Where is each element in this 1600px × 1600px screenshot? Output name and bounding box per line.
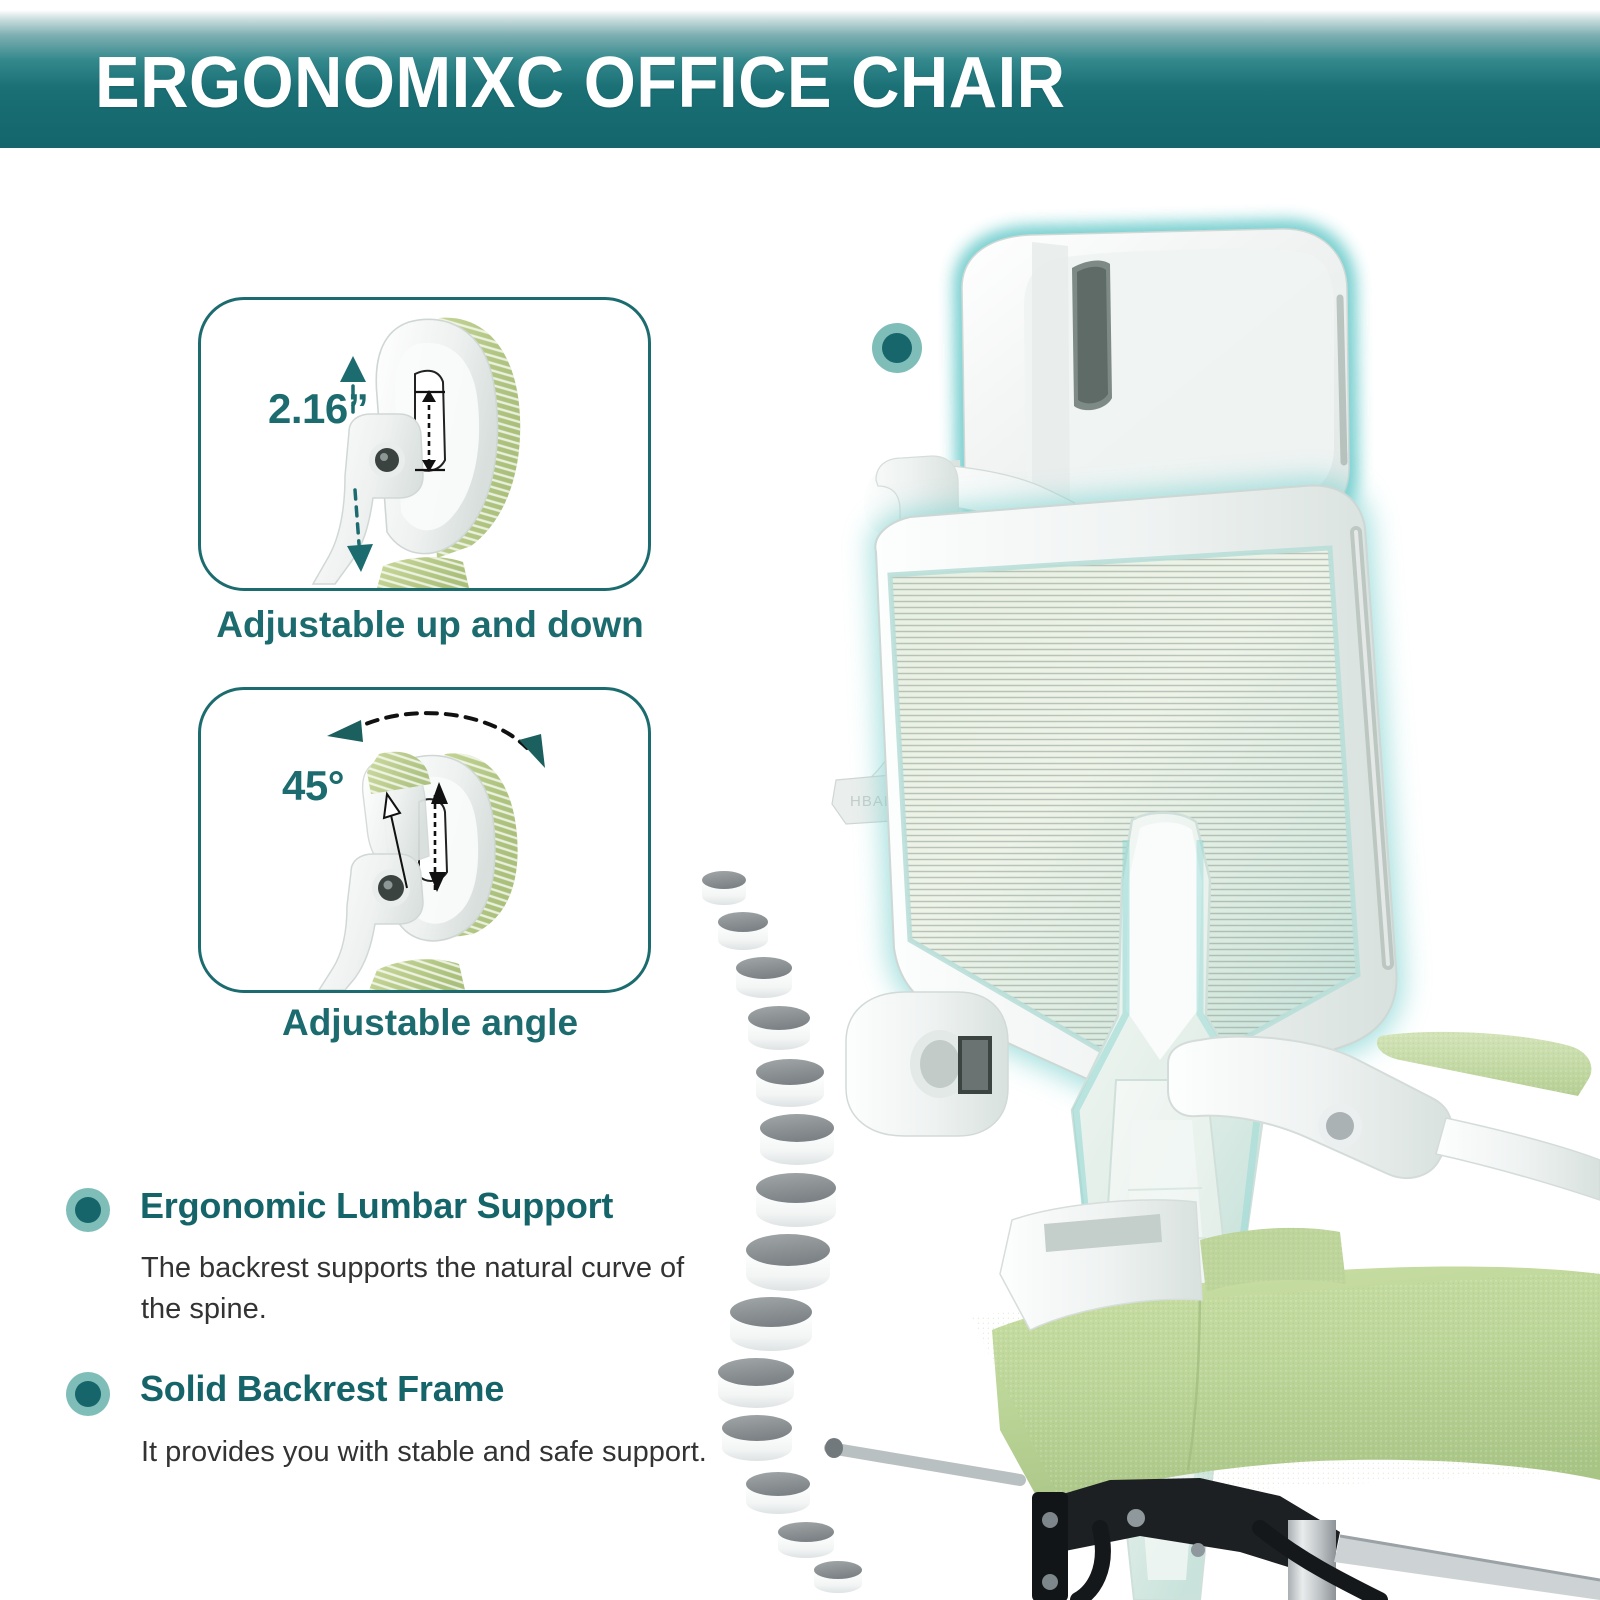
seat-pad-hint <box>369 959 465 990</box>
caption-adjustable-angle: Adjustable angle <box>180 1002 680 1044</box>
measure-label-height: 2.16” <box>268 385 368 433</box>
header-banner: ERGONOMIXC OFFICE CHAIR <box>0 10 1600 148</box>
bullet-icon-lumbar-support <box>66 1188 110 1232</box>
caption-adjustable-up-down: Adjustable up and down <box>180 604 680 646</box>
vertebra-disc <box>722 1415 792 1461</box>
feature-body-lumbar-support: The backrest supports the natural curve … <box>141 1248 721 1330</box>
feature-title-lumbar-support: Ergonomic Lumbar Support <box>140 1185 613 1227</box>
vertebra-disc <box>756 1173 836 1227</box>
vertebra-disc <box>702 871 746 905</box>
bullet-icon-backrest-frame <box>66 1372 110 1416</box>
vertebra-disc <box>746 1472 810 1514</box>
page-title: ERGONOMIXC OFFICE CHAIR <box>95 46 1065 120</box>
callout-adjustable-up-down <box>198 297 651 591</box>
headrest-highlight-marker-icon <box>872 323 922 373</box>
vertebra-disc <box>748 1006 810 1050</box>
seat-cushion <box>960 1200 1600 1520</box>
measure-label-angle: 45° <box>282 762 344 810</box>
vertebra-disc <box>736 957 792 998</box>
vertebra-disc <box>718 912 768 950</box>
spine-curve-graphic <box>660 840 1000 1600</box>
feature-title-backrest-frame: Solid Backrest Frame <box>140 1368 504 1410</box>
vertebra-disc <box>760 1114 834 1165</box>
vertebra-disc <box>814 1561 862 1593</box>
product-feature-graphic: ERGONOMIXC OFFICE CHAIR <box>0 0 1600 1600</box>
callout-adjustable-angle <box>198 687 651 993</box>
vertebra-disc <box>778 1522 834 1558</box>
vertebra-disc <box>756 1059 824 1107</box>
feature-body-backrest-frame: It provides you with stable and safe sup… <box>141 1432 721 1473</box>
seat-pad-hint <box>377 557 469 588</box>
vertebra-disc <box>746 1234 830 1291</box>
vertebra-disc <box>718 1358 794 1408</box>
vertebra-disc <box>730 1297 812 1351</box>
